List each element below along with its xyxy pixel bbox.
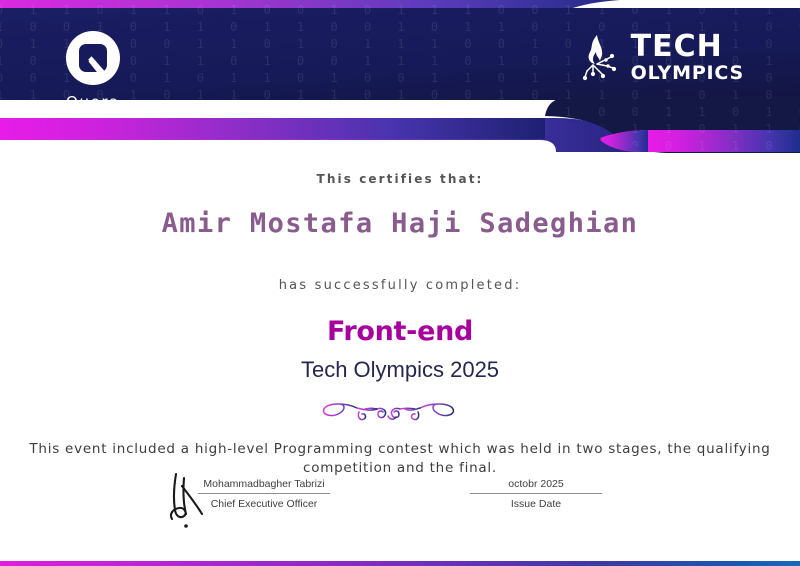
completed-label: has successfully completed: <box>0 278 800 293</box>
signatory-name: Mohammadbagher Tabrizi <box>198 478 330 494</box>
tech-flame-circuit-icon <box>577 33 623 83</box>
bottom-gradient-bar <box>0 561 800 566</box>
quera-q-icon <box>65 30 121 86</box>
description-text: This event included a high-level Program… <box>0 440 800 478</box>
tech-logo-line2: OLYMPICS <box>631 64 744 83</box>
event-title: Tech Olympics 2025 <box>0 357 800 383</box>
quera-logo: Quera <box>54 30 132 111</box>
issue-date-block: octobr 2025 Issue Date <box>470 478 602 510</box>
signatory-role: Chief Executive Officer <box>198 498 330 510</box>
recipient-name: Amir Mostafa Haji Sadeghian <box>0 208 800 239</box>
tech-olympics-logo: TECH OLYMPICS <box>577 32 744 83</box>
tech-logo-line1: TECH <box>631 32 723 62</box>
issue-date-value: octobr 2025 <box>470 478 602 494</box>
course-title: Front-end <box>0 316 800 347</box>
signature-row: Mohammadbagher Tabrizi Chief Executive O… <box>0 478 800 548</box>
certificate-header: 0 1 1 0 1 1 0 1 0 0 1 0 1 1 1 0 0 1 1 0 … <box>0 0 800 175</box>
ornamental-flourish-divider <box>315 396 485 426</box>
quera-wordmark: Quera <box>54 93 132 111</box>
certificate-page: 0 1 1 0 1 1 0 1 0 0 1 0 1 1 1 0 0 1 1 0 … <box>0 0 800 566</box>
signature-block-left: Mohammadbagher Tabrizi Chief Executive O… <box>198 478 330 510</box>
issue-date-label: Issue Date <box>470 498 602 510</box>
certifies-label: This certifies that: <box>0 172 800 186</box>
certificate-body: This certifies that: Amir Mostafa Haji S… <box>0 172 800 478</box>
